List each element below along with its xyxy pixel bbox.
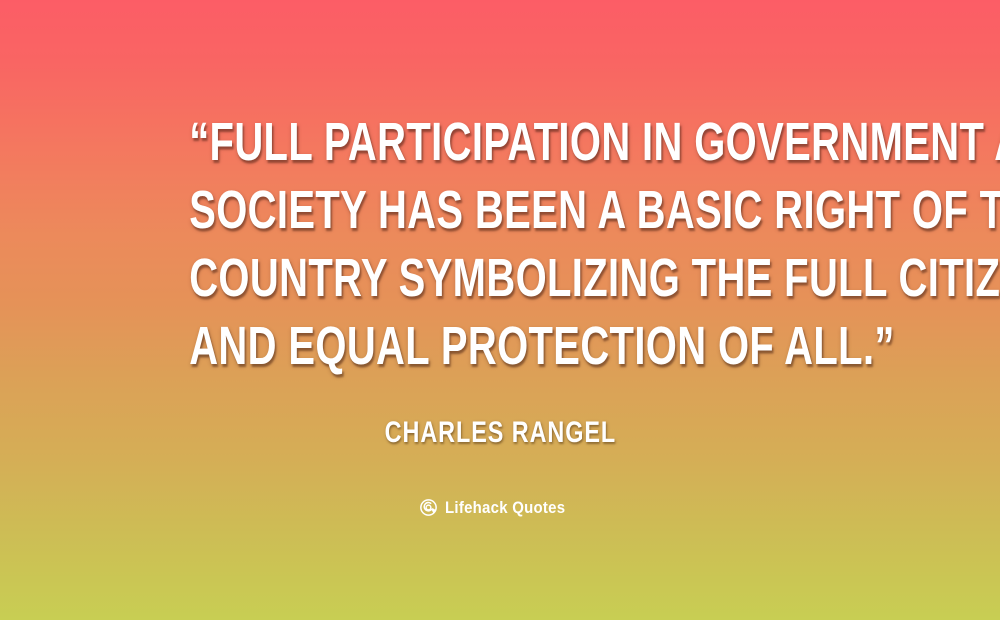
quote-text-block: “FULL PARTICIPATION IN GOVERNMENT AND SO… (40, 108, 960, 380)
quote-line-2: SOCIETY HAS BEEN A BASIC RIGHT OF THE (189, 176, 811, 244)
brand-footer: Lifehack Quotes (0, 498, 1000, 517)
quote-line-4: AND EQUAL PROTECTION OF ALL.” (189, 312, 811, 380)
quote-line-1: “FULL PARTICIPATION IN GOVERNMENT AND (189, 108, 811, 176)
author-name: CHARLES RANGEL (384, 414, 616, 452)
quote-author: CHARLES RANGEL (0, 414, 1000, 452)
quote-card: “FULL PARTICIPATION IN GOVERNMENT AND SO… (0, 0, 1000, 620)
lifehack-spiral-logo-icon (419, 498, 438, 517)
brand-name: Lifehack Quotes (445, 498, 565, 517)
quote-line-3: COUNTRY SYMBOLIZING THE FULL CITIZENSHIP (189, 244, 811, 312)
